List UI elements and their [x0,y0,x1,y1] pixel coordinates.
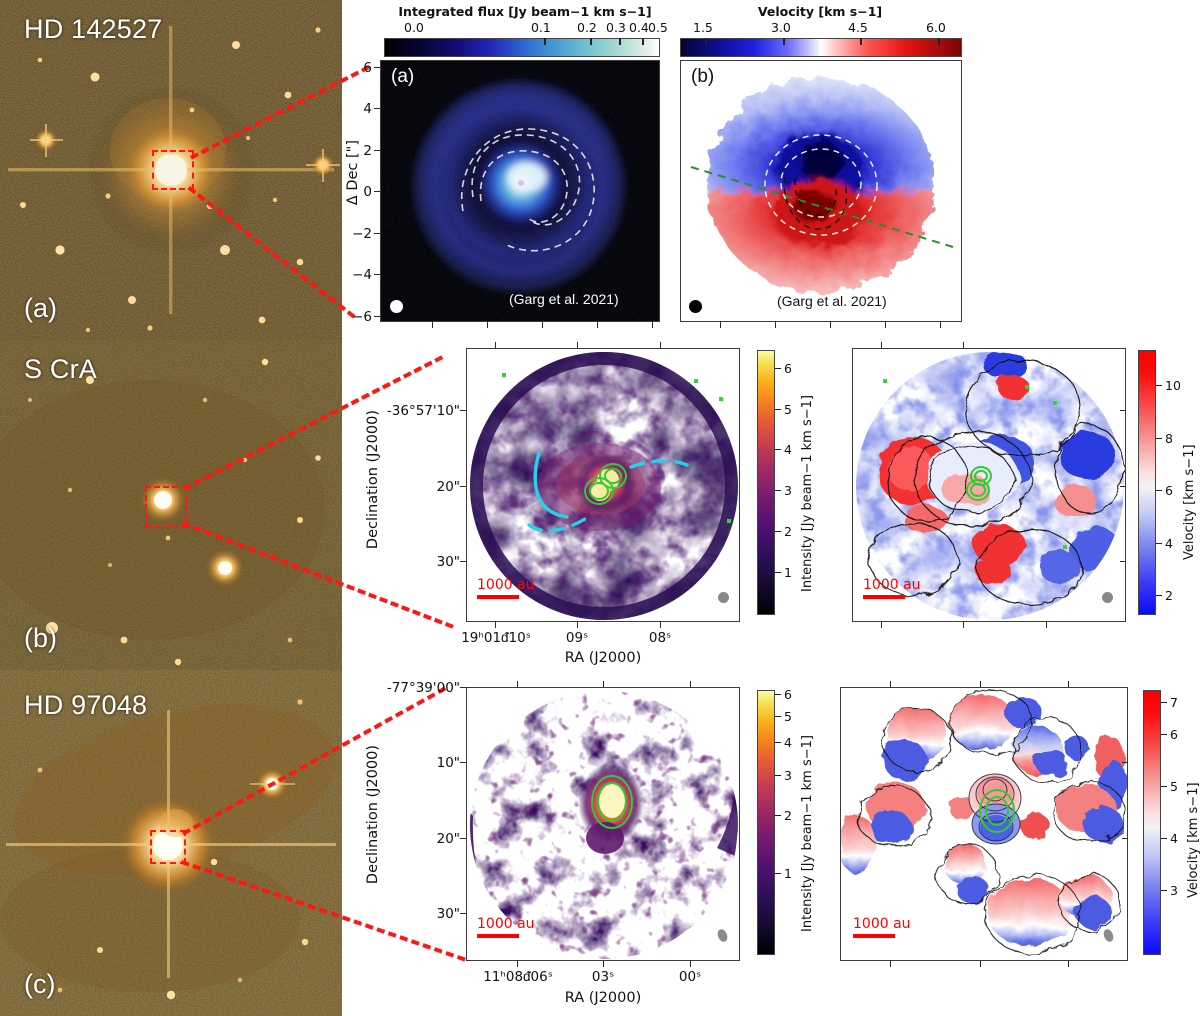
row1-ytick-4: 4 [348,101,372,117]
colorbar-row2-intensity-tick-4 [775,449,781,450]
row3-intensity-xtick-top-2 [690,681,691,687]
colorbar-title-velocity-row1: Velocity [km s−1] [680,4,960,19]
zoom-region-box-hd97048 [150,830,186,864]
row3-xtick-2: 00ˢ [669,969,711,985]
row2-velocity-xtick-1 [963,622,964,628]
colorbar-title-integrated-flux: Integrated flux [Jy beam−1 km s−1] [380,4,670,19]
colorbar-row3-intensity-label-2: 2 [784,808,792,823]
colorbar-row3-velocity-tick-6 [1161,734,1167,735]
colorbar-row2-velocity-tick-4 [1156,543,1162,544]
optical-title-scra: S CrA [24,354,97,385]
zoom-region-box-scra [145,486,187,528]
colorbar-row3-velocity [1143,690,1161,955]
colorbar-velocity-row1-label-2: 4.5 [848,20,868,35]
row1-velocity-credit: (Garg et al. 2021) [777,293,887,309]
colorbar-row3-intensity-tick-5 [775,716,781,717]
map-panel-hd97048-intensity: 1000 au [466,687,740,961]
colorbar-row3-velocity-tick-4 [1161,838,1167,839]
colorbar-flux-tick-0.3 [619,38,621,45]
colorbar-row3-intensity-tick-4 [775,742,781,743]
row1-intensity-xtick-2 [542,322,543,328]
row1-ytick-2: 2 [348,143,372,159]
hd142527-moment0-image [381,61,660,322]
row2-velocity-ytick-1 [1120,486,1126,487]
row2-velocity-xtick-2 [1046,622,1047,628]
row3-intensity-scalebar-label: 1000 au [477,916,535,932]
row3-intensity-xtick-2 [690,961,691,967]
row2-xaxis-title: RA (J2000) [466,650,740,666]
colorbar-row3-intensity-tick-2 [775,815,781,816]
row2-velocity-scalebar [863,595,905,599]
colorbar-row3-intensity-label-6: 6 [784,687,792,702]
row1-intensity-xtick-0 [432,322,433,328]
row3-velocity-ytick-1 [1122,838,1128,839]
row2-intensity-scalebar [477,595,519,599]
colorbar-row3-intensity-label-1: 1 [784,866,792,881]
row2-yaxis-title: Declination (J2000) [365,410,381,549]
colorbar-row2-intensity-tick-3 [775,490,781,491]
row2-xtick-1: 09ˢ [556,630,598,646]
row1-intensity-xtick-1 [487,322,488,328]
row1-ytick-m6: −6 [344,309,372,325]
optical-panel-label-a: (a) [24,293,57,324]
optical-panel-label-c: (c) [24,969,55,1000]
row2-velocity-ytick-2 [1120,561,1126,562]
colorbar-row3-velocity-label-4: 4 [1170,831,1178,846]
colorbar-row3-intensity-label-5: 5 [784,709,792,724]
colorbar-row3-intensity-tick-3 [775,775,781,776]
row2-intensity-xtick-top-2 [660,342,661,348]
colorbar-flux-label-2: 0.2 [577,20,597,35]
colorbar-flux-tick-0.2 [590,38,592,45]
colorbar-row2-intensity-label-5: 5 [784,402,792,417]
row1-velocity-xtick-0 [720,322,721,328]
colorbar-row2-velocity-tick-6 [1156,490,1162,491]
colorbar-row3-velocity-tick-3 [1161,890,1167,891]
colorbar-row3-intensity [757,690,775,955]
row1-ytick-m4: −4 [344,267,372,283]
colorbar-row2-velocity-label-2: 2 [1165,588,1173,603]
colorbar-row2-intensity-tick-6 [775,368,781,369]
row2-intensity-xtick-2 [660,622,661,628]
colorbar-row2-velocity-tick-2 [1156,595,1162,596]
row2-velocity-ytick-0 [1120,410,1126,411]
row1-ytick-m2: −2 [344,226,372,242]
row3-velocity-xtick-top-2 [1068,681,1069,687]
map-panel-scra-velocity: 1000 au [852,348,1126,622]
colorbar-row3-velocity-tick-7 [1161,702,1167,703]
colorbar-row2-intensity-title: Intensity [Jy beam−1 km s−1] [800,372,815,592]
row2-intensity-xtick-top-0 [495,342,496,348]
row2-ytick-2: 30" [380,554,460,570]
colorbar-row3-velocity-tick-5 [1161,786,1167,787]
colorbar-velocity-row1-tick-1.5 [705,38,707,45]
colorbar-row2-intensity-label-4: 4 [784,442,792,457]
row2-intensity-xtick-top-1 [577,342,578,348]
row3-velocity-xtick-2 [1068,961,1069,967]
row2-velocity-beam [1102,592,1113,603]
row2-xtick-0: 19ʰ01ᵭ10ˢ [444,630,548,646]
map-panel-scra-intensity: 1000 au [466,348,740,622]
colorbar-velocity-row1-tick-6.0 [938,38,940,45]
colorbar-velocity-row1-tick-3.0 [783,38,785,45]
optical-panel-scra: S CrA (b) [0,340,342,670]
row1-velocity-xtick-4 [940,322,941,328]
row1-velocity-panel-label: (b) [691,66,714,88]
row3-intensity-scalebar [477,934,519,938]
colorbar-velocity-row1-label-3: 6.0 [926,20,946,35]
row3-intensity-xtick-top-1 [603,681,604,687]
colorbar-row2-intensity-label-1: 1 [784,565,792,580]
colorbar-row3-velocity-label-3: 3 [1170,883,1178,898]
row3-intensity-xtick-1 [603,961,604,967]
colorbar-row2-velocity-label-8: 8 [1165,431,1173,446]
colorbar-row2-intensity-tick-1 [775,572,781,573]
optical-panel-label-b: (b) [24,623,57,654]
row3-velocity-xtick-top-0 [890,681,891,687]
optical-column: HD 142527 (a) S CrA [0,0,342,1016]
colorbar-row3-velocity-label-5: 5 [1170,779,1178,794]
row2-velocity-scalebar-label: 1000 au [863,577,921,593]
row3-ytick-2: 20" [375,831,460,847]
row3-velocity-xtick-1 [980,961,981,967]
colorbar-row2-intensity-tick-5 [775,409,781,410]
colorbar-velocity-row1-tick-4.5 [860,38,862,45]
map-panel-hd142527-intensity: (a) (Garg et al. 2021) [380,60,660,322]
colorbar-row2-intensity [757,350,775,615]
row2-velocity-xtick-top-1 [963,342,964,348]
row3-ytick-3: 30" [375,906,460,922]
row3-ytick-1: 10" [375,755,460,771]
colorbar-row3-velocity-label-7: 7 [1170,695,1178,710]
colorbar-flux-label-3: 0.3 [606,20,626,35]
colorbar-row2-velocity-label-10: 10 [1165,378,1181,393]
row2-intensity-scalebar-label: 1000 au [477,577,535,593]
colorbar-row2-velocity-title: Velocity [km s−1] [1182,420,1197,560]
row3-xtick-1: 03ˢ [582,969,624,985]
row3-ytick-0: -77°39'00" [375,680,460,696]
colorbar-row2-velocity-tick-8 [1156,438,1162,439]
colorbar-flux-tick-0.4 [642,38,644,45]
row2-intensity-xtick-1 [577,622,578,628]
colorbar-flux-label-0: 0.0 [404,20,424,35]
row3-velocity-xtick-0 [890,961,891,967]
row1-intensity-credit: (Garg et al. 2021) [509,291,619,307]
row2-velocity-xtick-0 [881,622,882,628]
colorbar-row2-velocity-label-6: 6 [1165,483,1173,498]
row1-ytick-6: 6 [348,60,372,76]
colorbar-row3-velocity-title: Velocity [km s−1] [1186,758,1200,898]
map-panel-hd97048-velocity: 1000 au [840,687,1128,961]
row1-velocity-beam [689,300,702,313]
colorbar-row3-velocity-label-6: 6 [1170,727,1178,742]
row3-velocity-scalebar [853,934,895,938]
row2-intensity-beam [718,592,729,603]
colorbar-flux-label-5: 0.5 [648,20,668,35]
row3-xaxis-title: RA (J2000) [466,990,740,1006]
colorbar-flux-label-1: 0.1 [531,20,551,35]
colorbar-flux-tick-0.1 [544,38,546,45]
colorbar-row2-velocity [1138,350,1156,615]
colorbar-flux-label-4: 0.4 [629,20,649,35]
row2-ytick-1: 20" [380,479,460,495]
row1-intensity-xtick-4 [652,322,653,328]
row3-velocity-scalebar-label: 1000 au [853,916,911,932]
colorbar-row3-intensity-label-4: 4 [784,735,792,750]
row3-velocity-xtick-top-1 [980,681,981,687]
row1-intensity-beam [390,300,403,313]
map-panel-hd142527-velocity: (b) (Garg et al. 2021) [680,60,962,322]
row1-ytick-0: 0 [348,184,372,200]
colorbar-row2-velocity-label-4: 4 [1165,536,1173,551]
optical-title-hd142527: HD 142527 [24,14,162,45]
colorbar-row3-intensity-tick-6 [775,694,781,695]
optical-title-hd97048: HD 97048 [24,690,147,721]
row3-intensity-xtick-0 [517,961,518,967]
row2-intensity-xtick-0 [495,622,496,628]
row1-velocity-xtick-2 [830,322,831,328]
row2-xtick-2: 08ˢ [639,630,681,646]
row1-velocity-xtick-3 [885,322,886,328]
colorbar-velocity-row1-label-0: 1.5 [693,20,713,35]
row3-intensity-xtick-top-0 [517,681,518,687]
row1-intensity-panel-label: (a) [391,66,414,88]
colorbar-row2-intensity-label-6: 6 [784,361,792,376]
figure-root: HD 142527 (a) S CrA [0,0,1200,1016]
row1-velocity-xtick-1 [775,322,776,328]
colorbar-velocity-row1-label-1: 3.0 [771,20,791,35]
row1-intensity-xtick-3 [597,322,598,328]
colorbar-row3-intensity-tick-1 [775,873,781,874]
optical-panel-hd97048: HD 97048 (c) [0,670,342,1016]
zoom-region-box-hd142527 [152,150,194,190]
colorbar-row2-intensity-label-2: 2 [784,524,792,539]
hd142527-moment1-image [681,61,962,322]
row2-ytick-0: -36°57'10" [380,403,460,419]
colorbar-row2-intensity-label-3: 3 [784,483,792,498]
colorbar-row3-intensity-title: Intensity [Jy beam−1 km s−1] [800,712,815,932]
optical-panel-hd142527: HD 142527 (a) [0,0,342,340]
colorbar-velocity-row1 [680,38,962,57]
row2-velocity-xtick-top-0 [881,342,882,348]
colorbar-row2-velocity-tick-10 [1156,385,1162,386]
row3-velocity-ytick-0 [1122,762,1128,763]
row3-xtick-0: 11ʰ08ᵭ06ˢ [465,969,571,985]
colorbar-row2-intensity-tick-2 [775,531,781,532]
colorbar-row3-intensity-label-3: 3 [784,768,792,783]
